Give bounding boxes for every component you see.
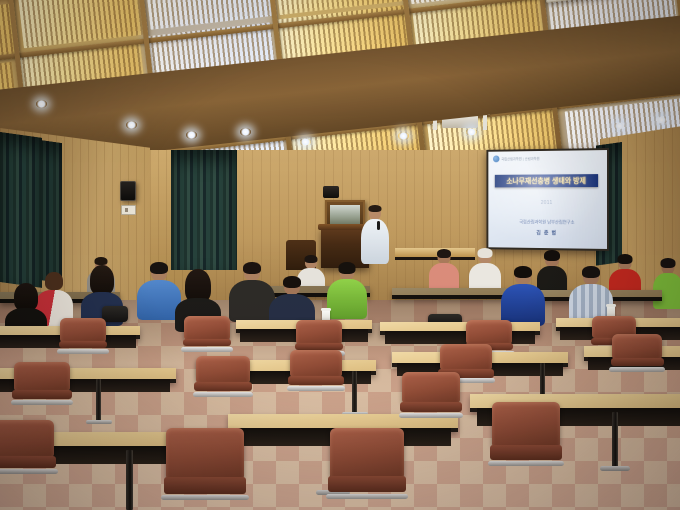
hair xyxy=(243,262,261,274)
hair xyxy=(618,254,633,264)
seminar-chair xyxy=(402,372,460,422)
hair xyxy=(582,266,600,278)
hair xyxy=(339,262,356,274)
table-foot xyxy=(86,420,112,424)
seminar-chair xyxy=(612,334,662,374)
downlight xyxy=(240,128,251,136)
table-leg xyxy=(96,379,101,421)
downlight xyxy=(614,122,625,130)
hair xyxy=(661,258,676,268)
attendee-green-jacket xyxy=(326,264,368,318)
hair xyxy=(150,262,168,274)
torso xyxy=(327,279,367,319)
light-switch-plate[interactable] xyxy=(121,205,136,215)
hair xyxy=(478,248,493,258)
seminar-chair xyxy=(196,356,250,400)
downlight xyxy=(300,138,311,146)
projection-screen: 국립산림과학원 | 산림과학원 소나무재선충병 생태와 방제 2011 국립산림… xyxy=(487,148,609,251)
seminar-chair xyxy=(166,428,244,510)
hair xyxy=(95,257,108,265)
attendee-salmon-plaid xyxy=(428,250,460,290)
downlight xyxy=(126,121,137,129)
curtain-left-inner xyxy=(40,140,62,283)
table-leg xyxy=(126,450,133,510)
slide-title: 소나무재선충병 생태와 방제 xyxy=(506,176,586,186)
wall-speaker-front xyxy=(323,186,339,198)
seminar-room-photo: 국립산림과학원 | 산림과학원 소나무재선충병 생태와 방제 2011 국립산림… xyxy=(0,0,680,510)
seminar-chair xyxy=(492,402,560,474)
slide-content: 국립산림과학원 | 산림과학원 소나무재선충병 생태와 방제 2011 국립산림… xyxy=(488,150,607,249)
downlight xyxy=(656,116,667,124)
slide-logo: 국립산림과학원 | 산림과학원 xyxy=(493,155,540,162)
table-leg xyxy=(352,371,357,413)
hair xyxy=(14,283,38,311)
logo-mark-icon xyxy=(493,155,499,162)
hair xyxy=(544,250,560,261)
seminar-table xyxy=(392,288,512,295)
presenter-hair xyxy=(369,205,382,212)
hair xyxy=(437,249,451,258)
seminar-chair xyxy=(0,420,54,480)
seminar-chair xyxy=(330,428,404,508)
seminar-chair xyxy=(14,362,70,408)
hair xyxy=(90,265,114,295)
wall-speaker-left xyxy=(120,181,136,201)
hair xyxy=(514,266,532,278)
seminar-table xyxy=(380,322,540,331)
downlight xyxy=(36,100,47,108)
presenter-with-microphone xyxy=(360,206,390,264)
presenter-microphone xyxy=(377,221,380,230)
seminar-chair xyxy=(184,316,230,354)
attendee-blue-hoodie xyxy=(500,268,546,324)
table-leg xyxy=(612,412,618,468)
curtain-back-center xyxy=(171,150,237,270)
seminar-chair xyxy=(60,318,106,356)
slide-presenter-name: 김 준 범 xyxy=(488,229,607,237)
hair xyxy=(283,276,301,288)
presenter-torso xyxy=(361,219,389,264)
downlight xyxy=(398,132,409,140)
slide-organization: 국립산림과학원 남부산림연구소 xyxy=(488,219,607,226)
hair xyxy=(305,255,318,263)
curtain-left-outer xyxy=(0,132,42,288)
slide-year: 2011 xyxy=(488,200,607,206)
slide-logo-text: 국립산림과학원 | 산림과학원 xyxy=(501,156,539,161)
table-foot xyxy=(600,466,630,471)
downlight xyxy=(466,128,477,136)
slide-title-bar: 소나무재선충병 생태와 방제 xyxy=(495,174,598,187)
seminar-chair xyxy=(290,350,342,394)
downlight xyxy=(186,131,197,139)
